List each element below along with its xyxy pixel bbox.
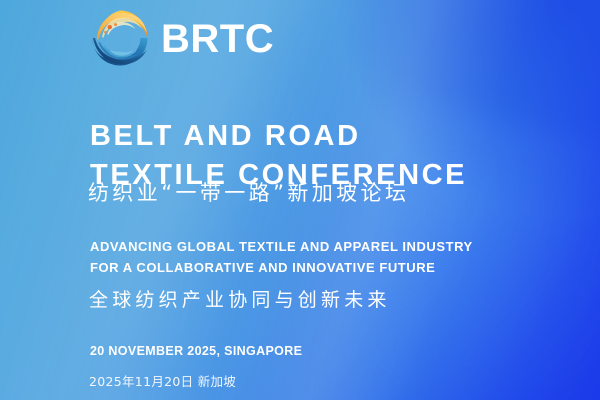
tagline-chinese: 全球纺织产业协同与创新未来 xyxy=(89,288,391,313)
conference-poster: BRTC BELT AND ROAD TEXTILE CONFERENCE 纺织… xyxy=(0,0,600,400)
tagline-line-1: ADVANCING GLOBAL TEXTILE AND APPAREL IND… xyxy=(90,236,473,257)
headline-chinese: 纺织业“一带一路”新加坡论坛 xyxy=(88,180,409,206)
tagline: ADVANCING GLOBAL TEXTILE AND APPAREL IND… xyxy=(90,236,473,278)
brtc-swirl-circle-logo-icon xyxy=(88,6,152,70)
tagline-line-2: FOR A COLLABORATIVE AND INNOVATIVE FUTUR… xyxy=(90,257,473,278)
poster-content: BRTC BELT AND ROAD TEXTILE CONFERENCE 纺织… xyxy=(0,0,600,400)
event-date-location-chinese: 2025年11月20日 新加坡 xyxy=(89,371,236,390)
brtc-wordmark: BRTC xyxy=(161,19,274,59)
event-date-location-english: 20 NOVEMBER 2025, SINGAPORE xyxy=(90,344,302,358)
headline-line-1: BELT AND ROAD xyxy=(90,117,467,155)
brand-lockup: BRTC xyxy=(88,6,274,70)
